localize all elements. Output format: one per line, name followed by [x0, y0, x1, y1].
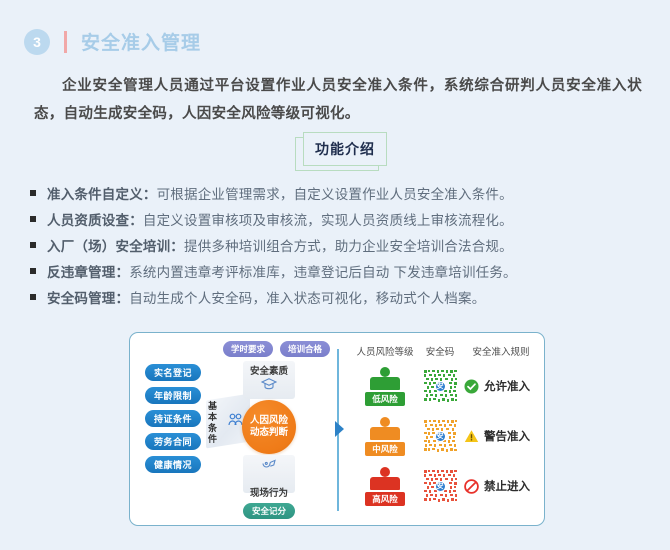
- risk-level-cell: 中风险: [352, 417, 418, 456]
- qr-code-green: 安: [424, 370, 457, 403]
- person-icon: [368, 467, 402, 491]
- bullet-square-icon: [30, 268, 36, 274]
- arrow-right-icon: [335, 421, 344, 437]
- warning-triangle-icon: [464, 429, 479, 444]
- access-rule-cell: 警告准入: [462, 428, 540, 444]
- header-divider-bar: [64, 31, 67, 53]
- access-rule-label: 警告准入: [484, 428, 530, 444]
- bullet-desc: 系统内置违章考评标准库，违章登记后自动 下发违章培训任务。: [129, 265, 517, 280]
- qr-code-red: 安: [424, 470, 457, 503]
- safety-score-pill: 安全记分: [243, 503, 295, 519]
- training-pill: 培训合格: [280, 341, 330, 357]
- site-behavior-label: 现场行为: [239, 485, 299, 499]
- check-circle-icon: [464, 379, 479, 394]
- bullet-content: 人员资质设查：自定义设置审核项及审核流，实现人员资质线上审核流程化。: [47, 208, 513, 234]
- condition-pill: 年龄限制: [145, 387, 201, 404]
- slide-page: 3 安全准入管理 企业安全管理人员通过平台设置作业人员安全准入条件，系统综合研判…: [0, 0, 670, 550]
- section-number-badge: 3: [24, 29, 50, 55]
- diagram-panel: 实名登记 年龄限制 持证条件 劳务合同 健康情况 基本条件 学时要求 培训合格: [129, 332, 545, 526]
- training-pill-group: 学时要求 培训合格: [223, 341, 330, 357]
- condition-pill: 持证条件: [145, 410, 201, 427]
- bullet-desc: 可根据企业管理需求，自定义设置作业人员安全准入条件。: [157, 187, 513, 202]
- column-header-risk-level: 人员风险等级: [352, 344, 418, 358]
- table-row: 低风险: [352, 361, 540, 411]
- status-badge: 低风险: [365, 392, 405, 406]
- risk-level-cell: 高风险: [352, 467, 418, 506]
- bullet-desc: 提供多种培训组合方式，助力企业安全培训合法合规。: [184, 239, 513, 254]
- prohibition-icon: [464, 479, 479, 494]
- graduation-cap-icon: [239, 377, 299, 393]
- table-header-row: 人员风险等级 安全码 安全准入规则: [352, 341, 540, 361]
- bullet-content: 安全码管理：自动生成个人安全码，准入状态可视化，移动式个人档案。: [47, 286, 485, 312]
- section-header: 3 安全准入管理: [24, 28, 201, 55]
- whistle-icon: [239, 457, 299, 474]
- column-header-safety-code: 安全码: [418, 344, 462, 358]
- center-line-1: 人因风险: [250, 415, 288, 427]
- risk-level-cell: 低风险: [352, 367, 418, 406]
- center-risk-circle: 人因风险 动态判断: [242, 400, 296, 454]
- list-item: 准入条件自定义：可根据企业管理需求，自定义设置作业人员安全准入条件。: [30, 182, 630, 208]
- condition-pill: 健康情况: [145, 456, 201, 473]
- feature-bullet-list: 准入条件自定义：可根据企业管理需求，自定义设置作业人员安全准入条件。 人员资质设…: [30, 182, 630, 312]
- table-row: 中风险: [352, 411, 540, 461]
- page-title: 安全准入管理: [81, 28, 201, 55]
- bullet-term: 反违章管理：: [47, 265, 129, 280]
- training-pill: 学时要求: [223, 341, 273, 357]
- bullet-term: 安全码管理：: [47, 291, 129, 306]
- bullet-content: 入厂（场）安全培训：提供多种培训组合方式，助力企业安全培训合法合规。: [47, 234, 513, 260]
- feature-box-label: 功能介绍: [315, 139, 375, 159]
- safety-code-cell: 安: [418, 370, 462, 403]
- bullet-term: 准入条件自定义：: [47, 187, 157, 202]
- status-badge: 高风险: [365, 492, 405, 506]
- list-item: 安全码管理：自动生成个人安全码，准入状态可视化，移动式个人档案。: [30, 286, 630, 312]
- status-badge: 中风险: [365, 442, 405, 456]
- people-icon: [228, 413, 243, 429]
- bullet-desc: 自定义设置审核项及审核流，实现人员资质线上审核流程化。: [143, 213, 513, 228]
- list-item: 人员资质设查：自定义设置审核项及审核流，实现人员资质线上审核流程化。: [30, 208, 630, 234]
- bullet-term: 人员资质设查：: [47, 213, 143, 228]
- bullet-desc: 自动生成个人安全码，准入状态可视化，移动式个人档案。: [129, 291, 485, 306]
- feature-box-front: 功能介绍: [303, 132, 387, 166]
- access-rule-cell: 禁止进入: [462, 478, 540, 494]
- bullet-term: 入厂（场）安全培训：: [47, 239, 184, 254]
- qr-center-logo: 安: [435, 381, 446, 392]
- bullet-content: 反违章管理：系统内置违章考评标准库，违章登记后自动 下发违章培训任务。: [47, 260, 517, 286]
- feature-intro-box: 功能介绍: [295, 132, 387, 172]
- qr-center-logo: 安: [435, 481, 446, 492]
- safety-code-cell: 安: [418, 420, 462, 453]
- risk-rule-table: 人员风险等级 安全码 安全准入规则 低风险: [352, 341, 540, 511]
- bullet-square-icon: [30, 294, 36, 300]
- access-rule-label: 允许准入: [484, 378, 530, 394]
- condition-pill: 实名登记: [145, 364, 201, 381]
- condition-pill: 劳务合同: [145, 433, 201, 450]
- list-item: 入厂（场）安全培训：提供多种培训组合方式，助力企业安全培训合法合规。: [30, 234, 630, 260]
- bullet-square-icon: [30, 216, 36, 222]
- basic-condition-label: 基本条件: [208, 401, 221, 445]
- safety-code-cell: 安: [418, 470, 462, 503]
- qr-center-logo: 安: [435, 431, 446, 442]
- basic-condition-pill-group: 实名登记 年龄限制 持证条件 劳务合同 健康情况: [145, 364, 201, 473]
- center-line-2: 动态判断: [250, 427, 288, 439]
- list-item: 反违章管理：系统内置违章考评标准库，违章登记后自动 下发违章培训任务。: [30, 260, 630, 286]
- bullet-content: 准入条件自定义：可根据企业管理需求，自定义设置作业人员安全准入条件。: [47, 182, 513, 208]
- person-icon: [368, 367, 402, 391]
- access-rule-cell: 允许准入: [462, 378, 540, 394]
- qr-code-orange: 安: [424, 420, 457, 453]
- table-row: 高风险: [352, 461, 540, 511]
- intro-paragraph: 企业安全管理人员通过平台设置作业人员安全准入条件，系统综合研判人员安全准入状态，…: [34, 72, 642, 128]
- access-rule-label: 禁止进入: [484, 478, 530, 494]
- column-header-access-rule: 安全准入规则: [462, 344, 540, 358]
- person-icon: [368, 417, 402, 441]
- bullet-square-icon: [30, 242, 36, 248]
- safety-quality-label: 安全素质: [239, 363, 299, 377]
- bullet-square-icon: [30, 190, 36, 196]
